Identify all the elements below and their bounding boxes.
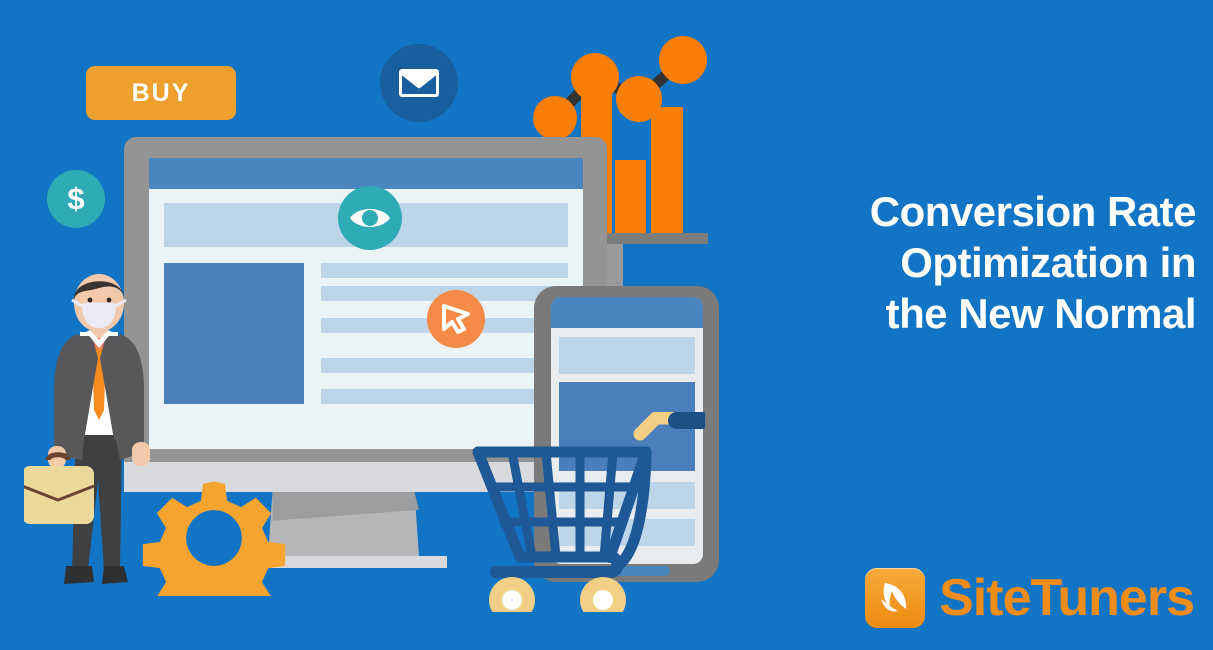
sitetuners-logo[interactable]: SiteTuners (822, 565, 1194, 631)
phone-topbar (551, 297, 703, 328)
buy-button[interactable]: BUY (86, 66, 236, 120)
sail-leaf-glyph (876, 579, 914, 617)
sail-leaf-icon (865, 568, 925, 628)
cursor-glyph (439, 302, 473, 336)
envelope-icon (380, 44, 458, 122)
bar-4 (651, 107, 683, 235)
cursor-pointer-icon (427, 290, 485, 348)
infographic-canvas: BUY $ (0, 0, 1213, 650)
businessman-glyph (24, 270, 184, 620)
shopping-cart-glyph (470, 412, 705, 612)
cart-wheel (489, 577, 535, 612)
cart-wheel (580, 577, 626, 612)
eye-glyph (348, 204, 392, 232)
phone-banner-block (559, 337, 695, 374)
monitor-stand-foot (268, 556, 447, 568)
trend-point-4 (659, 36, 707, 84)
buy-button-label: BUY (132, 79, 191, 108)
monitor-topbar (149, 158, 583, 189)
shopping-cart-icon (470, 412, 705, 612)
businessman-icon (24, 270, 184, 620)
headline-line-3: the New Normal (714, 288, 1196, 339)
page-title: Conversion Rate Optimization in the New … (714, 186, 1196, 340)
shoe-right (102, 566, 128, 584)
eye (88, 298, 93, 303)
monitor-text-line (321, 263, 568, 278)
headline-line-1: Conversion Rate (714, 186, 1196, 237)
eye (107, 298, 112, 303)
dollar-icon: $ (47, 170, 105, 228)
hand-right (132, 442, 150, 466)
monitor-image-block (164, 263, 304, 404)
dollar-symbol: $ (67, 181, 84, 217)
shoe-left (64, 566, 94, 584)
bar-3 (615, 160, 646, 235)
monitor-text-line (321, 389, 568, 404)
envelope-glyph (398, 68, 440, 98)
logo-wordmark: SiteTuners (939, 572, 1194, 624)
eye-icon (338, 186, 402, 250)
monitor-text-line (321, 358, 568, 373)
headline-line-2: Optimization in (714, 237, 1196, 288)
